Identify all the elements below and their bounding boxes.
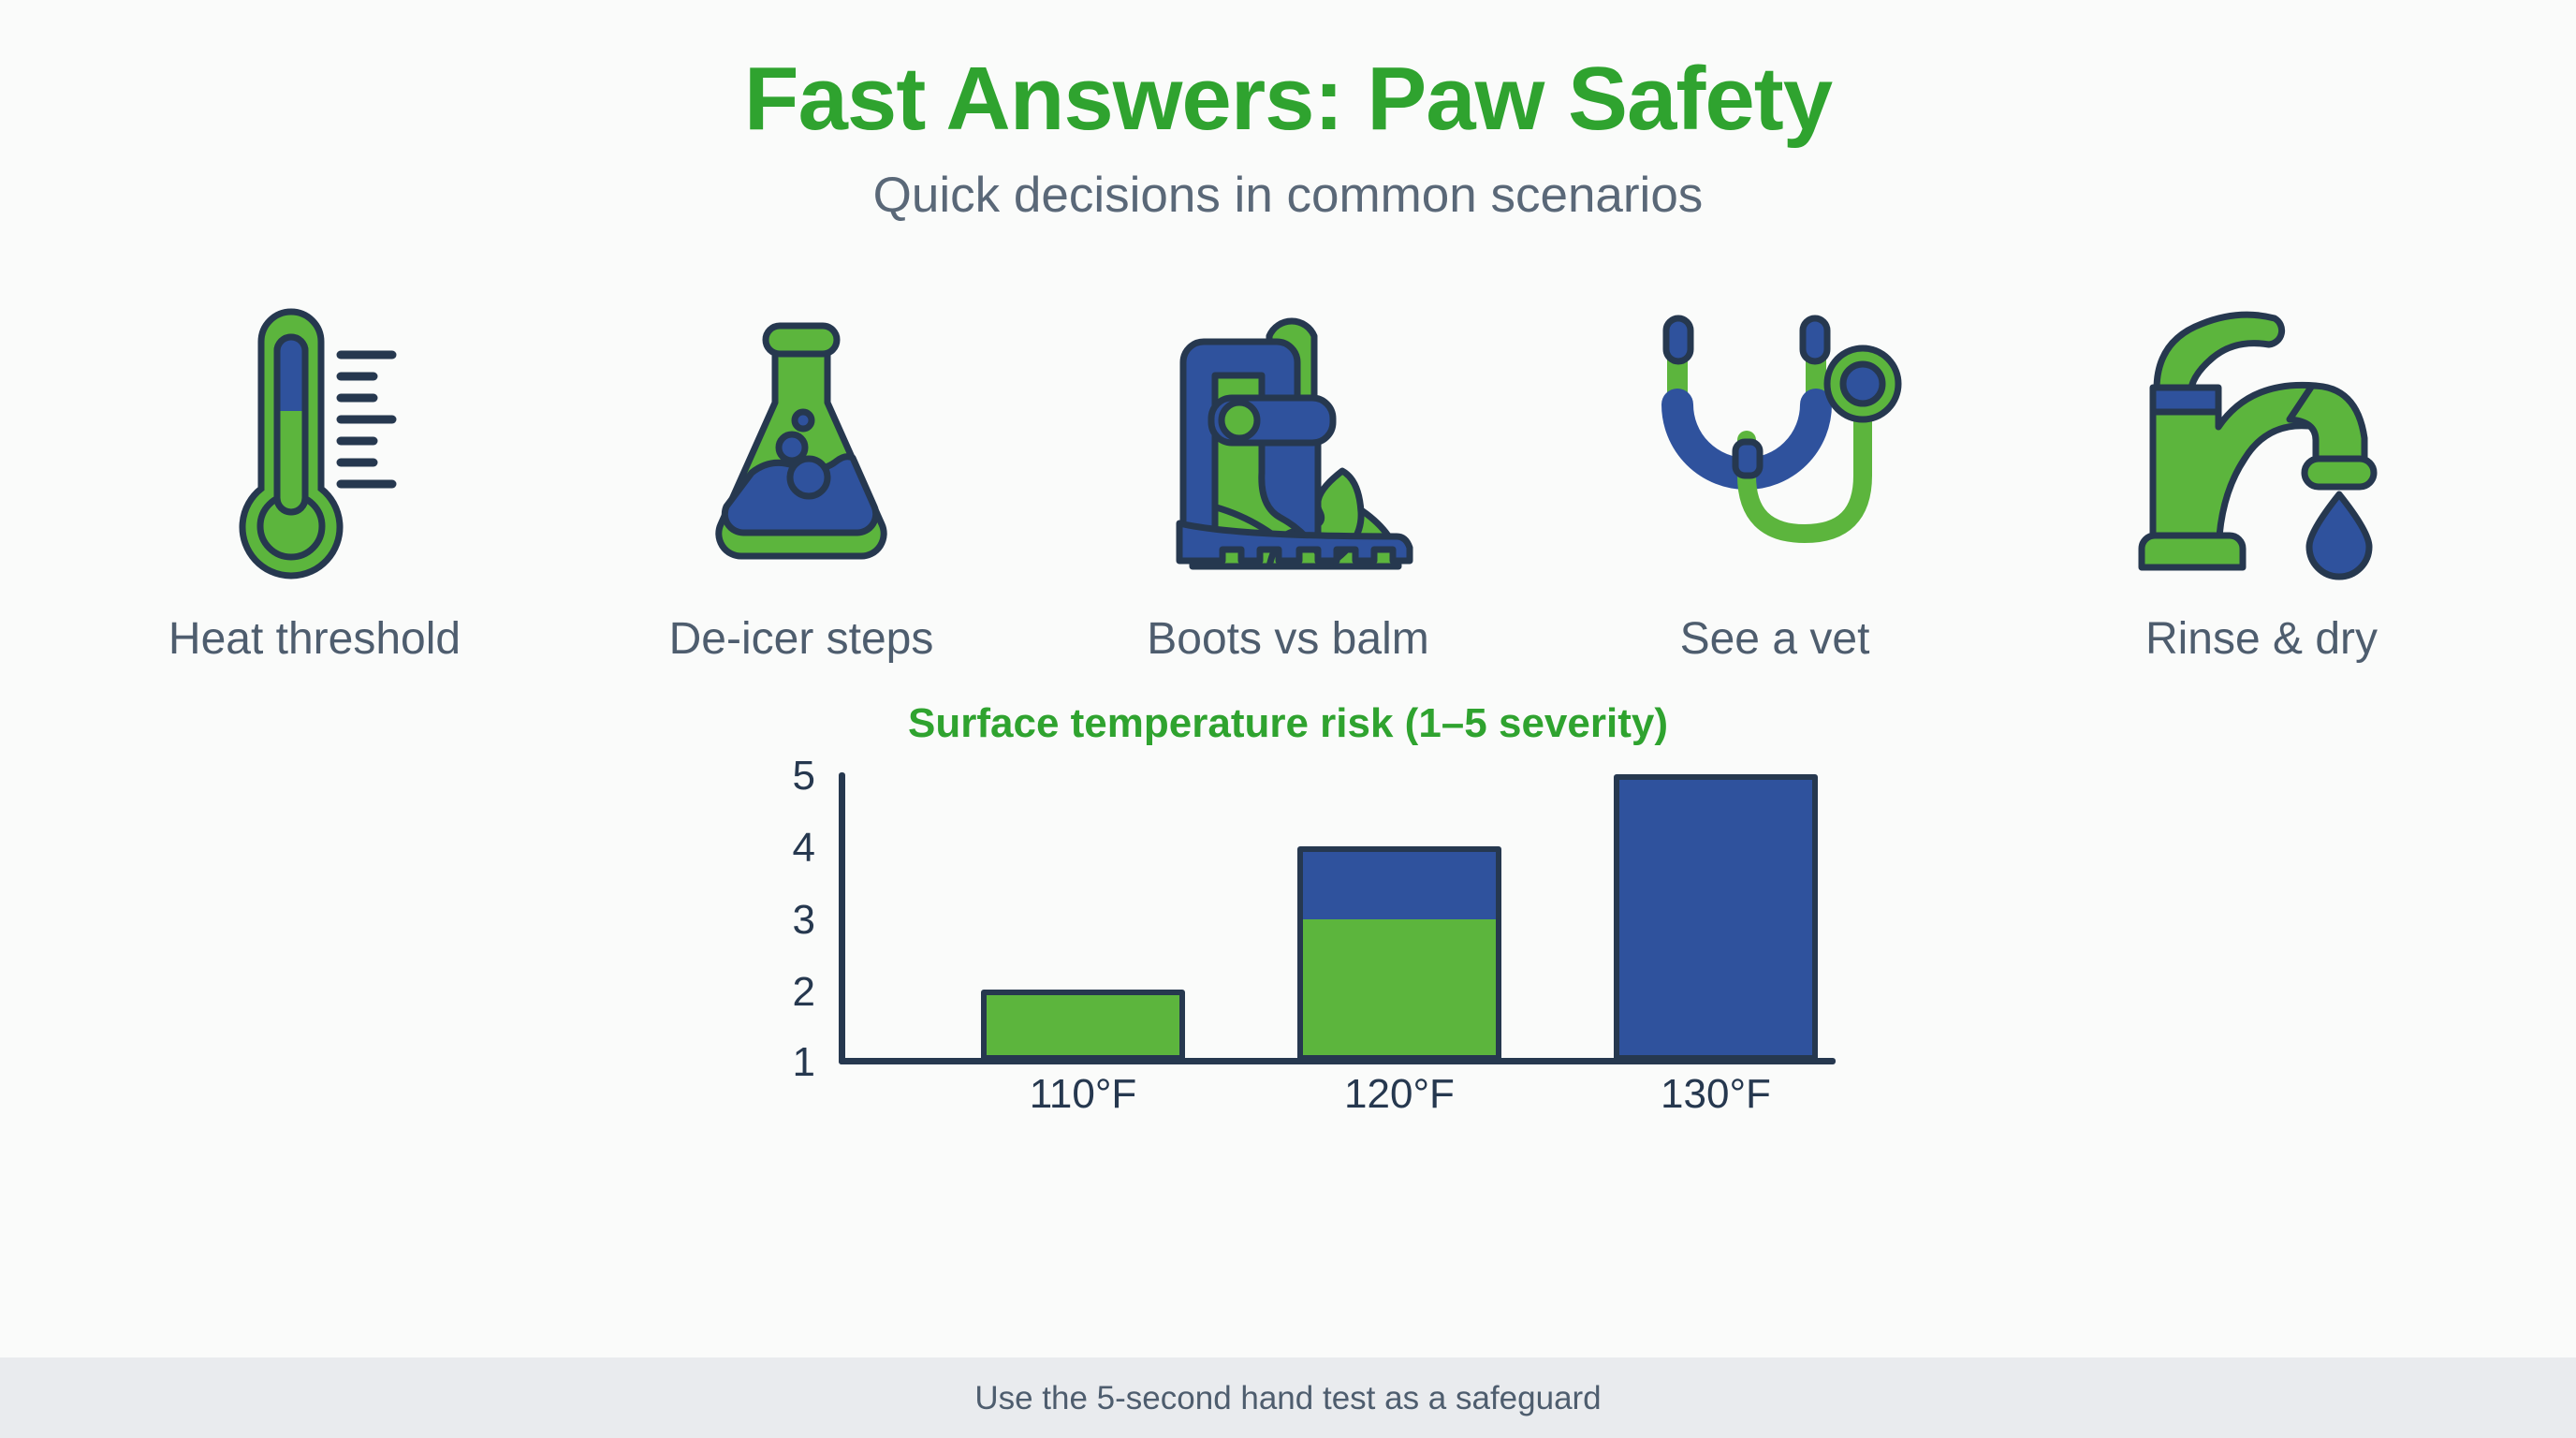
bar-segment-danger: [1619, 780, 1812, 1055]
bar-segment-safe: [1303, 919, 1496, 1055]
x-tick-110f: 110°F: [943, 1074, 1223, 1115]
bar-130f[interactable]: [1614, 774, 1818, 1061]
icon-row: Heat threshold De-icer steps: [0, 287, 2576, 662]
header: Fast Answers: Paw Safety Quick decisions…: [0, 0, 2576, 220]
icon-label: Rinse & dry: [2145, 617, 2378, 662]
stethoscope-icon: [1644, 287, 1906, 596]
thermometer-icon: [207, 287, 422, 596]
y-tick-2: 2: [750, 972, 815, 1013]
bar-segment-safe: [987, 995, 1179, 1056]
icon-cell-de-icer-steps[interactable]: De-icer steps: [577, 287, 1026, 662]
footer-note: Use the 5-second hand test as a safeguar…: [974, 1382, 1601, 1415]
bar-110f[interactable]: [981, 990, 1185, 1062]
y-tick-4: 4: [750, 828, 815, 869]
icon-label: Boots vs balm: [1147, 617, 1428, 662]
bar-120f[interactable]: [1297, 846, 1501, 1062]
icon-cell-see-a-vet[interactable]: See a vet: [1550, 287, 1999, 662]
bar-chart: 5 4 3 2 1 110°F 120°F 130°F: [726, 765, 1850, 1111]
icon-cell-boots-vs-balm[interactable]: Boots vs balm: [1063, 287, 1513, 662]
y-axis-line: [839, 772, 845, 1064]
icon-label: De-icer steps: [669, 617, 934, 662]
icon-label: Heat threshold: [168, 617, 461, 662]
plot-area: 5 4 3 2 1 110°F 120°F 130°F: [839, 772, 1850, 1064]
chart-title: Surface temperature risk (1–5 severity): [0, 703, 2576, 744]
chart-block: Surface temperature risk (1–5 severity) …: [0, 703, 2576, 1111]
page-title: Fast Answers: Paw Safety: [0, 54, 2576, 144]
faucet-icon: [2121, 287, 2402, 596]
icon-cell-rinse-and-dry[interactable]: Rinse & dry: [2037, 287, 2486, 662]
page-subtitle: Quick decisions in common scenarios: [0, 170, 2576, 220]
y-tick-3: 3: [750, 900, 815, 941]
x-tick-130f: 130°F: [1575, 1074, 1856, 1115]
icon-label: See a vet: [1680, 617, 1870, 662]
footer-band: Use the 5-second hand test as a safeguar…: [0, 1357, 2576, 1438]
y-tick-1: 1: [750, 1042, 815, 1083]
boot-icon: [1148, 287, 1428, 596]
x-tick-120f: 120°F: [1259, 1074, 1540, 1115]
flask-icon: [698, 287, 904, 596]
icon-cell-heat-threshold[interactable]: Heat threshold: [90, 287, 539, 662]
y-tick-5: 5: [750, 756, 815, 797]
bar-segment-danger: [1303, 852, 1496, 920]
